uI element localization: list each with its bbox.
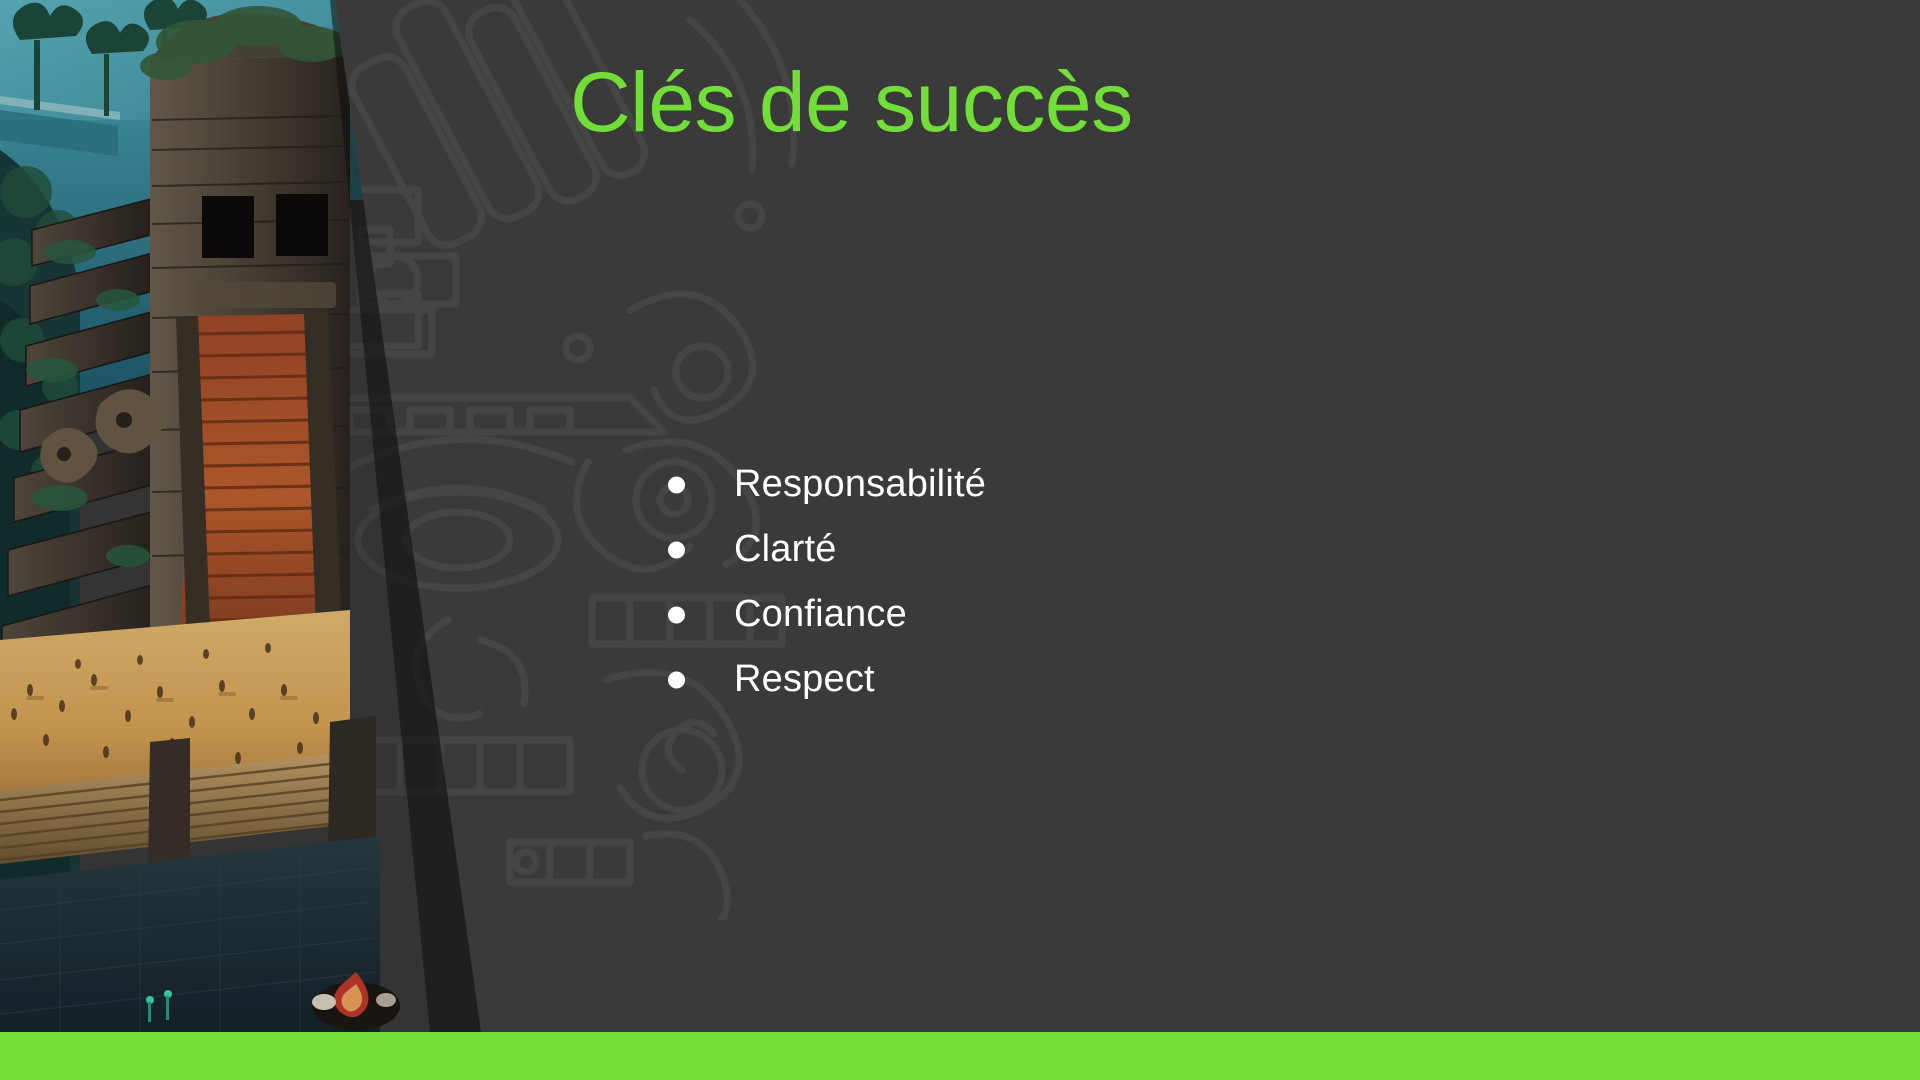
key-success-list: Responsabilité Clarté Confiance Respect xyxy=(668,452,986,712)
list-item: Confiance xyxy=(668,582,986,647)
page-title: Clés de succès xyxy=(570,58,1133,146)
list-item: Responsabilité xyxy=(668,452,986,517)
list-item: Clarté xyxy=(668,517,986,582)
mayan-temple-photo xyxy=(0,0,490,1032)
bullet-dot-icon xyxy=(668,606,685,623)
bullet-dot-icon xyxy=(668,541,685,558)
list-item-label: Clarté xyxy=(734,528,837,571)
list-item: Respect xyxy=(668,647,986,712)
accent-bottom-bar xyxy=(0,1032,1920,1080)
slide-root: Clés de succès Responsabilité Clarté Con… xyxy=(0,0,1920,1080)
bullet-dot-icon xyxy=(668,476,685,493)
list-item-label: Responsabilité xyxy=(734,463,986,506)
bullet-dot-icon xyxy=(668,671,685,688)
list-item-label: Respect xyxy=(734,658,875,701)
list-item-label: Confiance xyxy=(734,593,907,636)
